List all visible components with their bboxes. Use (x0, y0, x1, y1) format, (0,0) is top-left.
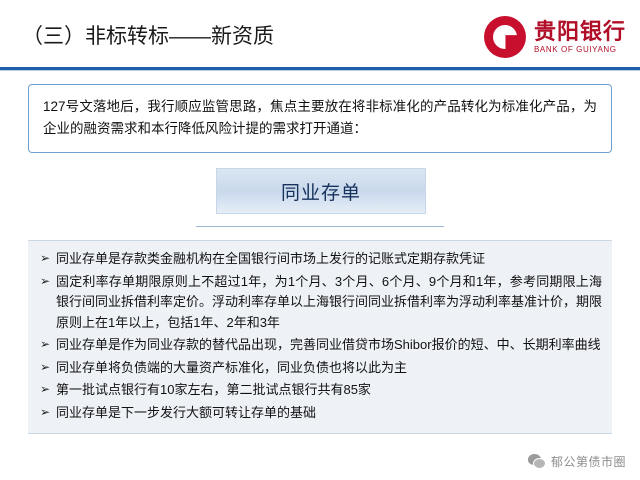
bank-logo-text: 贵阳银行 BANK OF GUIYANG (534, 20, 626, 54)
list-item-text: 同业存单是下一步发行大额可转让存单的基础 (56, 403, 316, 424)
bullet-arrow-icon: ➢ (40, 380, 56, 399)
bank-name-en: BANK OF GUIYANG (534, 45, 626, 54)
section-banner-underline (196, 226, 444, 227)
bullet-arrow-icon: ➢ (40, 335, 56, 354)
footer-watermark: 郁公第债市圈 (528, 453, 626, 470)
page-title: （三）非标转标——新资质 (22, 20, 274, 50)
guiyang-bank-logo-icon (484, 16, 526, 58)
list-item-text: 同业存单是存款类金融机构在全国银行间市场上发行的记账式定期存款凭证 (56, 249, 485, 270)
header-divider-secondary (0, 70, 640, 71)
list-item: ➢ 固定利率存单期限原则上不超过1年，为1个月、3个月、6个月、9个月和1年，参… (40, 272, 602, 334)
list-item-text: 同业存单是作为同业存款的替代品出现，完善同业借贷市场Shibor报价的短、中、长… (56, 335, 601, 356)
bullet-arrow-icon: ➢ (40, 249, 56, 268)
bullet-list: ➢ 同业存单是存款类金融机构在全国银行间市场上发行的记账式定期存款凭证 ➢ 固定… (28, 240, 612, 434)
bullet-arrow-icon: ➢ (40, 358, 56, 377)
list-item: ➢ 同业存单将负债端的大量资产标准化，同业负债也将以此为主 (40, 358, 602, 379)
bank-name-cn: 贵阳银行 (534, 20, 626, 43)
list-item-text: 固定利率存单期限原则上不超过1年，为1个月、3个月、6个月、9个月和1年，参考同… (56, 272, 602, 334)
bullet-arrow-icon: ➢ (40, 403, 56, 422)
intro-text: 127号文落地后，我行顺应监管思路，焦点主要放在将非标准化的产品转化为标准化产品… (43, 96, 597, 140)
section-banner: 同业存单 (216, 168, 426, 214)
slide-header: （三）非标转标——新资质 贵阳银行 BANK OF GUIYANG (0, 0, 640, 68)
list-item-text: 同业存单将负债端的大量资产标准化，同业负债也将以此为主 (56, 358, 407, 379)
list-item: ➢ 第一批试点银行有10家左右，第二批试点银行共有85家 (40, 380, 602, 401)
section-banner-title: 同业存单 (281, 178, 361, 205)
list-item: ➢ 同业存单是下一步发行大额可转让存单的基础 (40, 403, 602, 424)
list-item-text: 第一批试点银行有10家左右，第二批试点银行共有85家 (56, 380, 371, 401)
intro-callout-box: 127号文落地后，我行顺应监管思路，焦点主要放在将非标准化的产品转化为标准化产品… (28, 84, 612, 153)
list-item: ➢ 同业存单是作为同业存款的替代品出现，完善同业借贷市场Shibor报价的短、中… (40, 335, 602, 356)
footer-watermark-text: 郁公第债市圈 (551, 453, 626, 470)
list-item: ➢ 同业存单是存款类金融机构在全国银行间市场上发行的记账式定期存款凭证 (40, 249, 602, 270)
bullet-arrow-icon: ➢ (40, 272, 56, 291)
wechat-icon (528, 454, 546, 469)
bank-logo: 贵阳银行 BANK OF GUIYANG (484, 14, 626, 60)
